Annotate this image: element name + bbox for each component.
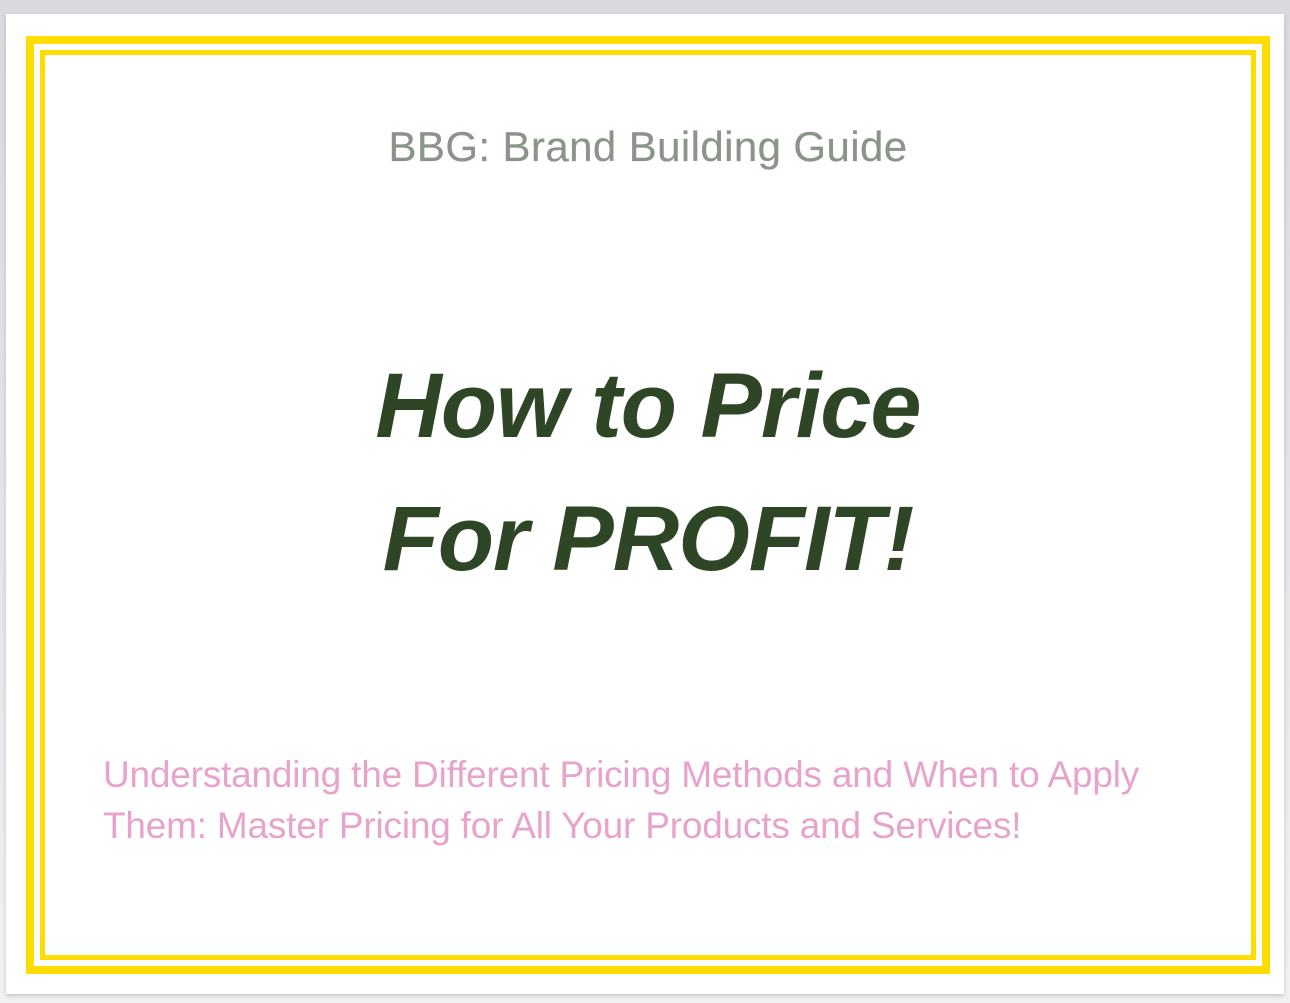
slide-viewport: BBG: Brand Building Guide How to Price F… (0, 0, 1290, 1003)
slide-title-line-2: For PROFIT! (52, 473, 1244, 606)
slide-subtitle: Understanding the Different Pricing Meth… (103, 750, 1214, 851)
slide-subtitle-line-1: Understanding the Different Pricing Meth… (103, 750, 1214, 801)
slide-subtitle-line-2: Them: Master Pricing for All Your Produc… (103, 801, 1214, 852)
slide-title-line-1: How to Price (52, 340, 1244, 473)
slide-content: BBG: Brand Building Guide How to Price F… (52, 62, 1244, 948)
slide-title: How to Price For PROFIT! (52, 340, 1244, 607)
slide-kicker: BBG: Brand Building Guide (52, 124, 1244, 170)
presentation-slide: BBG: Brand Building Guide How to Price F… (6, 14, 1284, 994)
